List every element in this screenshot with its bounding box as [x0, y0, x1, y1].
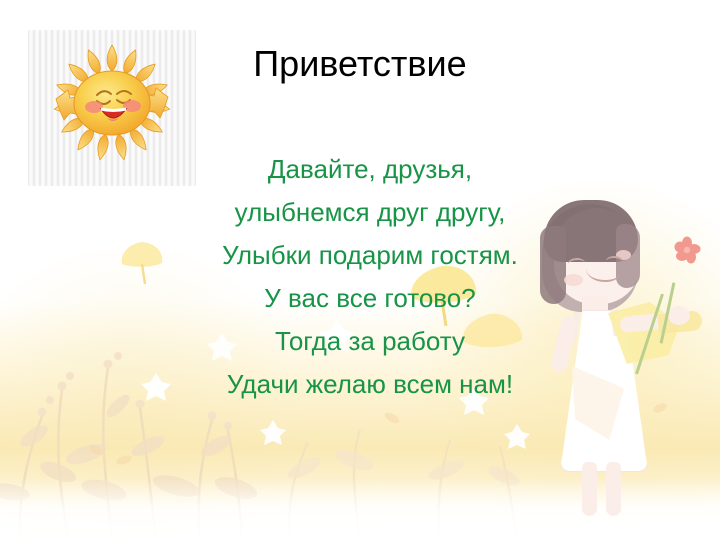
- pink-flower-icon: [672, 236, 702, 266]
- poem-line-6: Удачи желаю всем нам!: [80, 363, 660, 406]
- poem-block: Давайте, друзья, улыбнемся друг другу, У…: [80, 148, 660, 406]
- slide-canvas: Приветствие Давайте, друзья, улыбнемся д…: [0, 0, 720, 540]
- slide-title-text: Приветствие: [253, 42, 466, 86]
- poem-line-1: Давайте, друзья,: [80, 148, 660, 191]
- poem-line-5: Тогда за работу: [80, 320, 660, 363]
- girl-leg-right: [606, 462, 621, 516]
- slide-title: Приветствие: [0, 42, 720, 86]
- girl-leg-left: [582, 462, 597, 516]
- girl-hand: [668, 306, 690, 325]
- poem-line-4: У вас все готово?: [80, 277, 660, 320]
- poem-line-3: Улыбки подарим гостям.: [80, 234, 660, 277]
- poem-line-2: улыбнемся друг другу,: [80, 191, 660, 234]
